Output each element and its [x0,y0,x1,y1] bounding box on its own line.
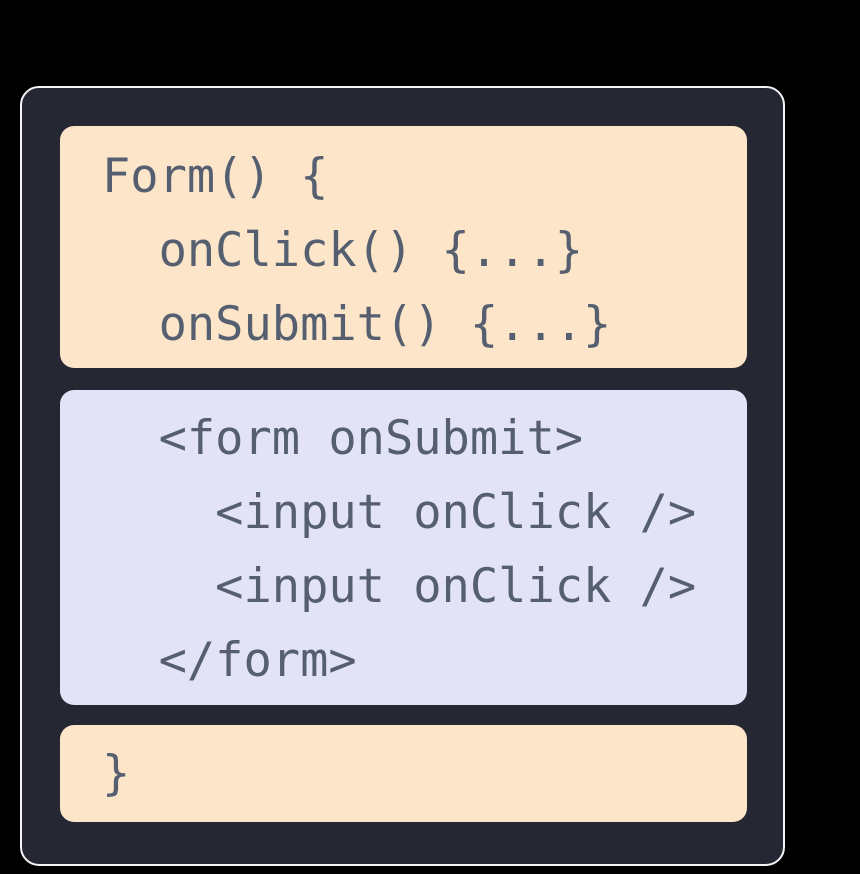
code-line: onSubmit() {...} [60,288,747,362]
code-panel-component-scope: Form() { onClick() {...} onSubmit() {...… [60,126,747,368]
code-line: Form() { [60,140,747,214]
page-canvas: Form() { onClick() {...} onSubmit() {...… [0,0,860,874]
code-card: Form() { onClick() {...} onSubmit() {...… [20,86,785,866]
code-panel-closing-scope: } [60,725,747,822]
code-line: </form> [60,624,747,698]
code-panel-markup-scope: <form onSubmit> <input onClick /> <input… [60,390,747,705]
code-line: <input onClick /> [60,476,747,550]
code-line: <form onSubmit> [60,402,747,476]
code-line: } [60,737,747,811]
code-line: <input onClick /> [60,550,747,624]
code-line: onClick() {...} [60,214,747,288]
